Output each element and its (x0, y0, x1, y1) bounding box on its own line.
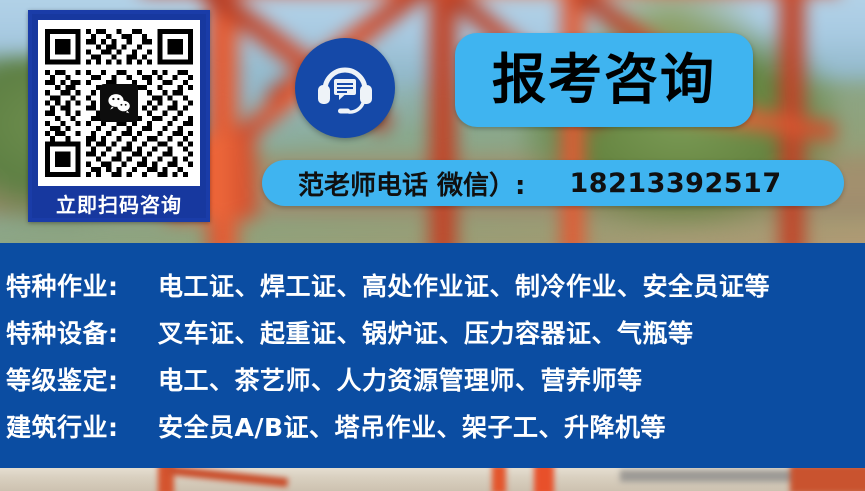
headset-support-icon (313, 58, 377, 118)
headset-support-badge[interactable] (295, 38, 395, 138)
wechat-logo-icon (100, 84, 138, 122)
info-row: 特种作业: 电工证、焊工证、高处作业证、制冷作业、安全员证等 (6, 267, 865, 314)
crane-beam-vertical-2 (430, 0, 456, 244)
info-row-label: 特种作业: (6, 267, 158, 303)
info-row-label: 特种设备: (6, 314, 158, 350)
info-row-label: 建筑行业: (6, 408, 158, 444)
background-photo-bottom (0, 468, 865, 491)
bottom-photo-red-right (790, 468, 865, 491)
info-row: 特种设备: 叉车证、起重证、锅炉证、压力容器证、气瓶等 (6, 314, 865, 361)
info-row-label: 等级鉴定: (6, 361, 158, 397)
info-row-value: 电工、茶艺师、人力资源管理师、营养师等 (158, 361, 643, 397)
info-row: 等级鉴定: 电工、茶艺师、人力资源管理师、营养师等 (6, 361, 865, 408)
certification-info-panel: 特种作业: 电工证、焊工证、高处作业证、制冷作业、安全员证等 特种设备: 叉车证… (0, 243, 865, 468)
bottom-photo-red-bar (168, 468, 288, 487)
bottom-photo-gray-rail (620, 470, 800, 482)
info-row-value: 电工证、焊工证、高处作业证、制冷作业、安全员证等 (158, 267, 770, 303)
qr-code-card[interactable]: 立即扫码咨询 (28, 10, 210, 222)
qr-caption: 立即扫码咨询 (38, 186, 200, 224)
bottom-photo-red-post-3 (534, 468, 554, 491)
title-pill-label: 报考咨询 (492, 53, 716, 107)
phone-pill-label: 范老师电话 微信）: (298, 165, 525, 202)
info-row-value: 叉车证、起重证、锅炉证、压力容器证、气瓶等 (158, 314, 694, 350)
phone-pill[interactable]: 范老师电话 微信）: 18213392517 (262, 160, 844, 206)
info-row-value: 安全员A/B证、塔吊作业、架子工、升降机等 (158, 408, 666, 444)
title-pill[interactable]: 报考咨询 (455, 33, 753, 127)
phone-number[interactable]: 18213392517 (569, 168, 781, 199)
qr-code-white-area (38, 20, 200, 186)
bottom-photo-red-post-2 (492, 468, 506, 491)
info-row: 建筑行业: 安全员A/B证、塔吊作业、架子工、升降机等 (6, 408, 865, 455)
promo-poster: 立即扫码咨询 报考咨询 范老师电话 微信）: 18213392517 (0, 0, 865, 491)
